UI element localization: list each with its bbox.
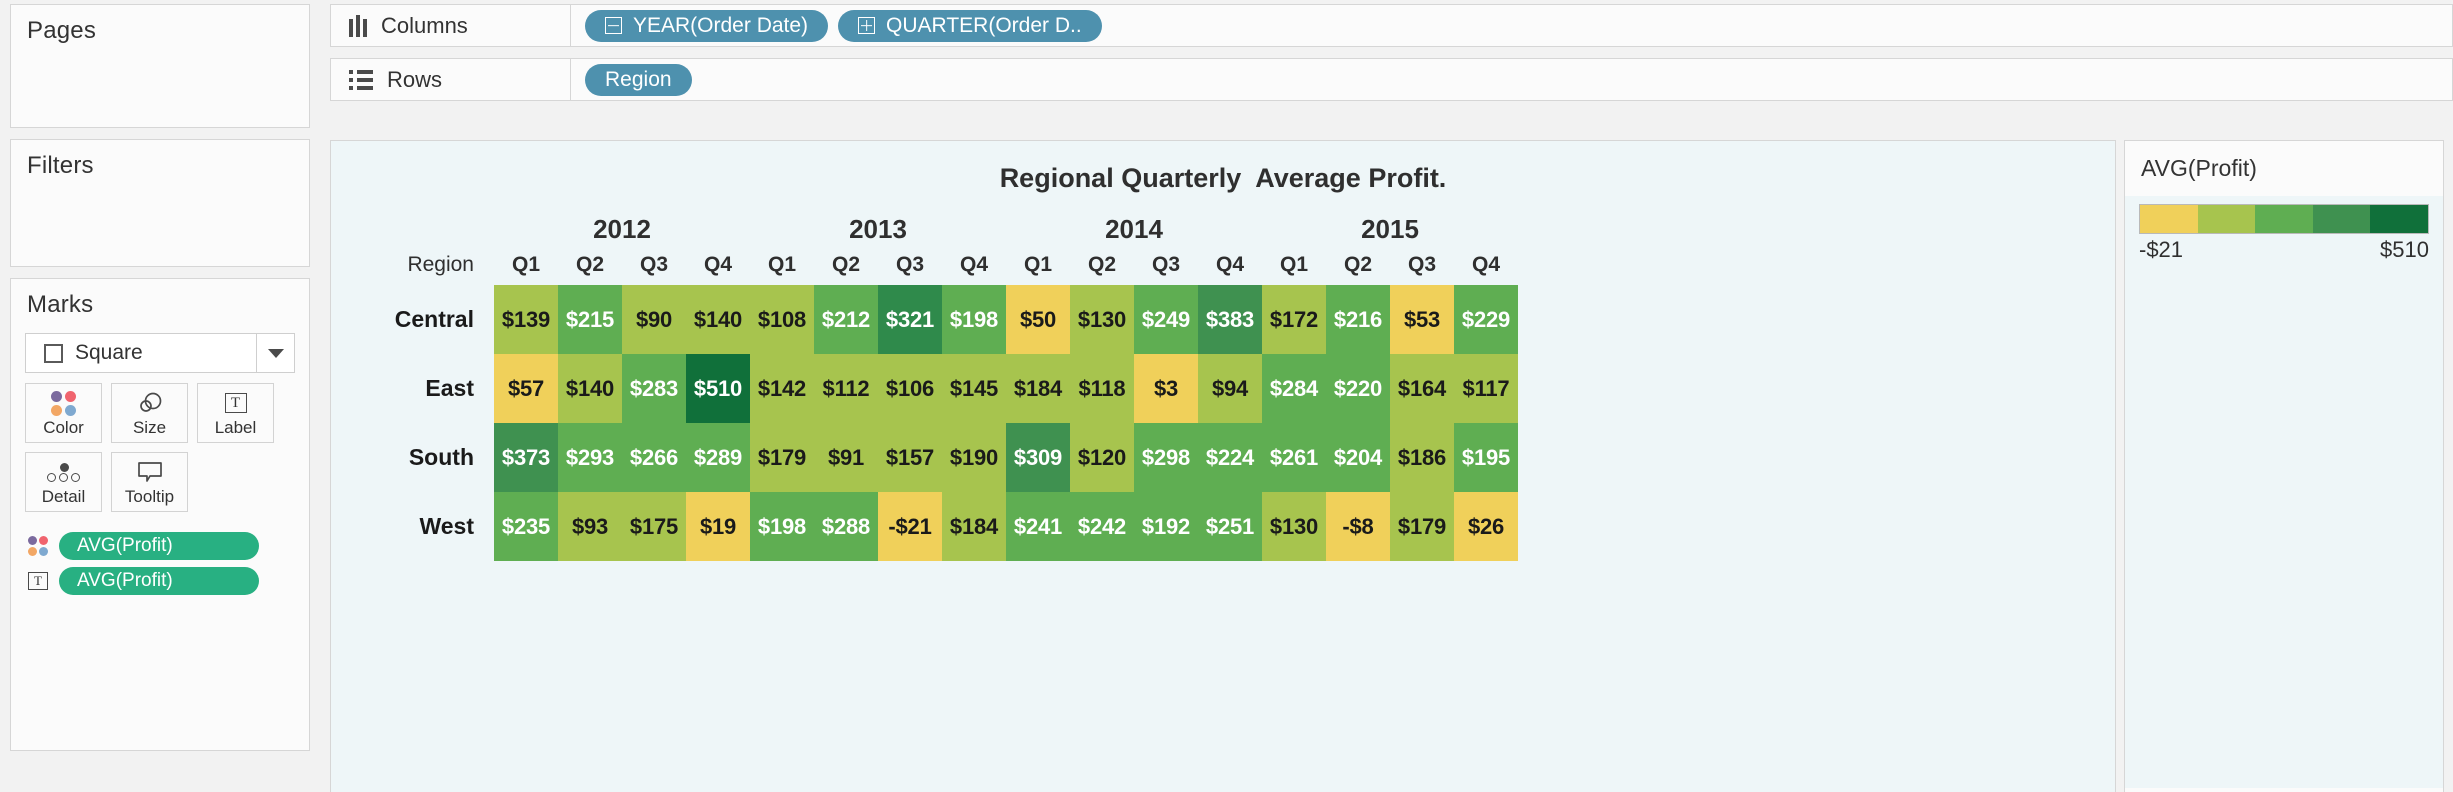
heatmap-cell[interactable]: $266: [622, 423, 686, 492]
heatmap-cell[interactable]: $179: [750, 423, 814, 492]
tableau-worksheet: Pages Filters Marks Square: [0, 0, 2453, 792]
heatmap-cell[interactable]: $90: [622, 285, 686, 354]
pill-quarter-order-date-label: QUARTER(Order D..: [886, 14, 1082, 38]
heatmap-cell[interactable]: $139: [494, 285, 558, 354]
chevron-down-icon: [268, 349, 284, 358]
marks-pill-list: AVG(Profit) T AVG(Profit): [25, 532, 295, 595]
color-button-label: Color: [43, 419, 84, 436]
quarter-header-2013-Q1[interactable]: Q1: [750, 253, 814, 277]
heatmap-cell[interactable]: $186: [1390, 423, 1454, 492]
row-cells: $373$293$266$289$179$91$157$190$309$120$…: [494, 423, 1518, 492]
heatmap-grid: Central$139$215$90$140$108$212$321$198$5…: [331, 285, 2115, 561]
quarter-header-2015-Q4[interactable]: Q4: [1454, 253, 1518, 277]
quarter-header-2012-Q4[interactable]: Q4: [686, 253, 750, 277]
heatmap-cell[interactable]: $190: [942, 423, 1006, 492]
heatmap-cell[interactable]: $284: [1262, 354, 1326, 423]
mark-type-label: Square: [75, 341, 143, 365]
year-header-2013[interactable]: 2013: [750, 214, 1006, 245]
row-cells: $57$140$283$510$142$112$106$145$184$118$…: [494, 354, 1518, 423]
heatmap-cell[interactable]: $130: [1070, 285, 1134, 354]
heatmap-cell[interactable]: $57: [494, 354, 558, 423]
marks-pill-color[interactable]: AVG(Profit): [25, 532, 295, 560]
heatmap-cell[interactable]: $220: [1326, 354, 1390, 423]
legend-swatch-0: [2140, 205, 2198, 233]
quarter-header-2015-Q3[interactable]: Q3: [1390, 253, 1454, 277]
quarter-header-2013-Q4[interactable]: Q4: [942, 253, 1006, 277]
marks-buttons: Color Size T Label: [25, 383, 295, 512]
heatmap-cell[interactable]: $229: [1454, 285, 1518, 354]
label-text-icon: T: [25, 572, 51, 590]
heatmap-cell[interactable]: $283: [622, 354, 686, 423]
heatmap-cell[interactable]: $50: [1006, 285, 1070, 354]
mark-type-dropdown-button[interactable]: [256, 334, 294, 372]
size-circles-icon: [135, 390, 165, 416]
minus-expander-icon[interactable]: [605, 17, 622, 34]
heatmap-cell[interactable]: $309: [1006, 423, 1070, 492]
year-header-2012[interactable]: 2012: [494, 214, 750, 245]
heatmap-cell[interactable]: $19: [686, 492, 750, 561]
shelves: Columns YEAR(Order Date) QUARTER(Order D…: [330, 0, 2453, 101]
heatmap-cell[interactable]: -$8: [1326, 492, 1390, 561]
quarter-header-row: Region Q1Q2Q3Q4Q1Q2Q3Q4Q1Q2Q3Q4Q1Q2Q3Q4: [331, 253, 2115, 277]
panel-divider-vertical: [2116, 140, 2124, 792]
row-cells: $235$93$175$19$198$288-$21$184$241$242$1…: [494, 492, 1518, 561]
marks-pill-color-label[interactable]: AVG(Profit): [59, 532, 259, 560]
color-legend: AVG(Profit) -$21 $510: [2124, 140, 2444, 792]
quarter-header-2013-Q3[interactable]: Q3: [878, 253, 942, 277]
heatmap-cell[interactable]: $293: [558, 423, 622, 492]
heatmap-cell[interactable]: $184: [1006, 354, 1070, 423]
heatmap-cell[interactable]: $235: [494, 492, 558, 561]
size-button-label: Size: [133, 419, 166, 436]
heatmap-cell[interactable]: $106: [878, 354, 942, 423]
size-button[interactable]: Size: [111, 383, 188, 443]
heatmap-cell[interactable]: $184: [942, 492, 1006, 561]
filters-card: Filters: [10, 139, 310, 267]
heatmap-cell[interactable]: $3: [1134, 354, 1198, 423]
heatmap-cell[interactable]: $198: [942, 285, 1006, 354]
legend-swatch-3: [2313, 205, 2371, 233]
rows-shelf-label: Rows: [331, 59, 571, 100]
heatmap-cell[interactable]: $120: [1070, 423, 1134, 492]
rows-shelf[interactable]: Rows Region: [330, 58, 2453, 101]
heatmap-cell[interactable]: $288: [814, 492, 878, 561]
row-header-central[interactable]: Central: [331, 285, 494, 354]
heatmap-cell[interactable]: $510: [686, 354, 750, 423]
pill-region-label: Region: [605, 68, 672, 92]
tooltip-button-label: Tooltip: [125, 488, 174, 505]
quarter-header-2015-Q1[interactable]: Q1: [1262, 253, 1326, 277]
heatmap-cell[interactable]: $157: [878, 423, 942, 492]
heatmap-cell[interactable]: $164: [1390, 354, 1454, 423]
legend-scale: -$21 $510: [2139, 237, 2429, 263]
heatmap-cell[interactable]: $215: [558, 285, 622, 354]
heatmap-cell[interactable]: $140: [558, 354, 622, 423]
heatmap-cell[interactable]: $298: [1134, 423, 1198, 492]
detail-dots-icon: [47, 459, 80, 485]
year-header-2014[interactable]: 2014: [1006, 214, 1262, 245]
heatmap-cell[interactable]: $93: [558, 492, 622, 561]
panel-divider-horizontal: [318, 118, 2453, 140]
columns-shelf-content[interactable]: YEAR(Order Date) QUARTER(Order D..: [571, 5, 2452, 46]
marks-pill-label-label[interactable]: AVG(Profit): [59, 567, 259, 595]
quarter-header-2012-Q1[interactable]: Q1: [494, 253, 558, 277]
heatmap-cell[interactable]: $145: [942, 354, 1006, 423]
heatmap-cell[interactable]: $172: [1262, 285, 1326, 354]
columns-shelf-label: Columns: [331, 5, 571, 46]
heatmap-cell[interactable]: $212: [814, 285, 878, 354]
heatmap-cell[interactable]: $53: [1390, 285, 1454, 354]
label-text-icon: T: [225, 390, 247, 416]
legend-min-label: -$21: [2139, 237, 2183, 263]
heatmap-cell[interactable]: $251: [1198, 492, 1262, 561]
table-row: Central$139$215$90$140$108$212$321$198$5…: [331, 285, 2115, 354]
year-header-2015[interactable]: 2015: [1262, 214, 1518, 245]
mark-type-selector[interactable]: Square: [25, 333, 295, 373]
legend-swatch-4: [2370, 205, 2428, 233]
heatmap-cell[interactable]: $118: [1070, 354, 1134, 423]
page-title: Regional Quarterly Average Profit.: [331, 163, 2115, 194]
quarter-header-2012-Q3[interactable]: Q3: [622, 253, 686, 277]
pill-year-order-date[interactable]: YEAR(Order Date): [585, 10, 828, 42]
heatmap-cell[interactable]: $289: [686, 423, 750, 492]
legend-max-label: $510: [2380, 237, 2429, 263]
color-button[interactable]: Color: [25, 383, 102, 443]
quarter-header-2014-Q1[interactable]: Q1: [1006, 253, 1070, 277]
square-icon: [44, 344, 63, 363]
legend-body: -$21 $510: [2125, 196, 2443, 788]
columns-icon: [349, 15, 367, 37]
heatmap-cell[interactable]: $249: [1134, 285, 1198, 354]
quarter-header-2014-Q2[interactable]: Q2: [1070, 253, 1134, 277]
heatmap-cell[interactable]: $204: [1326, 423, 1390, 492]
tooltip-bubble-icon: [136, 459, 164, 485]
heatmap-cell[interactable]: $242: [1070, 492, 1134, 561]
heatmap-cell[interactable]: $91: [814, 423, 878, 492]
header-corner-spacer: [331, 214, 494, 245]
pill-region[interactable]: Region: [585, 64, 692, 96]
tooltip-button[interactable]: Tooltip: [111, 452, 188, 512]
pages-title: Pages: [11, 5, 309, 53]
region-axis-label: Region: [331, 253, 494, 277]
heatmap-cell[interactable]: $26: [1454, 492, 1518, 561]
columns-label-text: Columns: [381, 13, 468, 39]
marks-title: Marks: [11, 279, 309, 327]
mark-type-current[interactable]: Square: [26, 334, 256, 372]
heatmap-cell[interactable]: $216: [1326, 285, 1390, 354]
table-row: West$235$93$175$19$198$288-$21$184$241$2…: [331, 492, 2115, 561]
row-cells: $139$215$90$140$108$212$321$198$50$130$2…: [494, 285, 1518, 354]
rows-shelf-content[interactable]: Region: [571, 59, 2452, 100]
legend-color-ramp[interactable]: [2139, 204, 2429, 234]
legend-swatch-2: [2255, 205, 2313, 233]
heatmap-cell[interactable]: $94: [1198, 354, 1262, 423]
quarter-header-2014-Q4[interactable]: Q4: [1198, 253, 1262, 277]
heatmap-cell[interactable]: $175: [622, 492, 686, 561]
heatmap-cell[interactable]: $142: [750, 354, 814, 423]
label-button-label: Label: [215, 419, 257, 436]
heatmap-cell[interactable]: $373: [494, 423, 558, 492]
color-dots-icon: [25, 536, 51, 556]
heatmap-cell[interactable]: $130: [1262, 492, 1326, 561]
heatmap-cell[interactable]: $179: [1390, 492, 1454, 561]
color-dots-icon: [51, 390, 76, 416]
pill-quarter-order-date[interactable]: QUARTER(Order D..: [838, 10, 1102, 42]
pill-year-order-date-label: YEAR(Order Date): [633, 14, 808, 38]
detail-button-label: Detail: [42, 488, 85, 505]
column-headers: 2012201320142015 Region Q1Q2Q3Q4Q1Q2Q3Q4…: [331, 214, 2115, 277]
rows-icon: [349, 70, 373, 90]
heatmap-cell[interactable]: $224: [1198, 423, 1262, 492]
table-row: East$57$140$283$510$142$112$106$145$184$…: [331, 354, 2115, 423]
row-header-east[interactable]: East: [331, 354, 494, 423]
pages-card: Pages: [10, 4, 310, 128]
year-header-row: 2012201320142015: [331, 214, 2115, 245]
heatmap-cell[interactable]: $383: [1198, 285, 1262, 354]
heatmap-cell[interactable]: $195: [1454, 423, 1518, 492]
rows-label-text: Rows: [387, 67, 442, 93]
heatmap-cell[interactable]: $198: [750, 492, 814, 561]
row-header-south[interactable]: South: [331, 423, 494, 492]
label-button[interactable]: T Label: [197, 383, 274, 443]
heatmap-cell[interactable]: $112: [814, 354, 878, 423]
heatmap-cell[interactable]: $241: [1006, 492, 1070, 561]
table-row: South$373$293$266$289$179$91$157$190$309…: [331, 423, 2115, 492]
marks-pill-label[interactable]: T AVG(Profit): [25, 567, 295, 595]
legend-title: AVG(Profit): [2125, 141, 2443, 182]
plus-expander-icon[interactable]: [858, 17, 875, 34]
quarter-header-2012-Q2[interactable]: Q2: [558, 253, 622, 277]
quarter-header-2015-Q2[interactable]: Q2: [1326, 253, 1390, 277]
quarter-header-2014-Q3[interactable]: Q3: [1134, 253, 1198, 277]
legend-swatch-1: [2198, 205, 2256, 233]
row-header-west[interactable]: West: [331, 492, 494, 561]
columns-shelf[interactable]: Columns YEAR(Order Date) QUARTER(Order D…: [330, 4, 2453, 47]
heatmap-cell[interactable]: $192: [1134, 492, 1198, 561]
viz-canvas: Regional Quarterly Average Profit. 20122…: [330, 140, 2116, 792]
marks-card: Marks Square: [10, 278, 310, 751]
heatmap-cell[interactable]: $140: [686, 285, 750, 354]
heatmap-cell[interactable]: $117: [1454, 354, 1518, 423]
left-panel: Pages Filters Marks Square: [0, 0, 318, 792]
heatmap-cell[interactable]: $261: [1262, 423, 1326, 492]
heatmap-cell[interactable]: -$21: [878, 492, 942, 561]
heatmap-cell[interactable]: $108: [750, 285, 814, 354]
filters-title: Filters: [11, 140, 309, 188]
heatmap-cell[interactable]: $321: [878, 285, 942, 354]
quarter-header-2013-Q2[interactable]: Q2: [814, 253, 878, 277]
detail-button[interactable]: Detail: [25, 452, 102, 512]
